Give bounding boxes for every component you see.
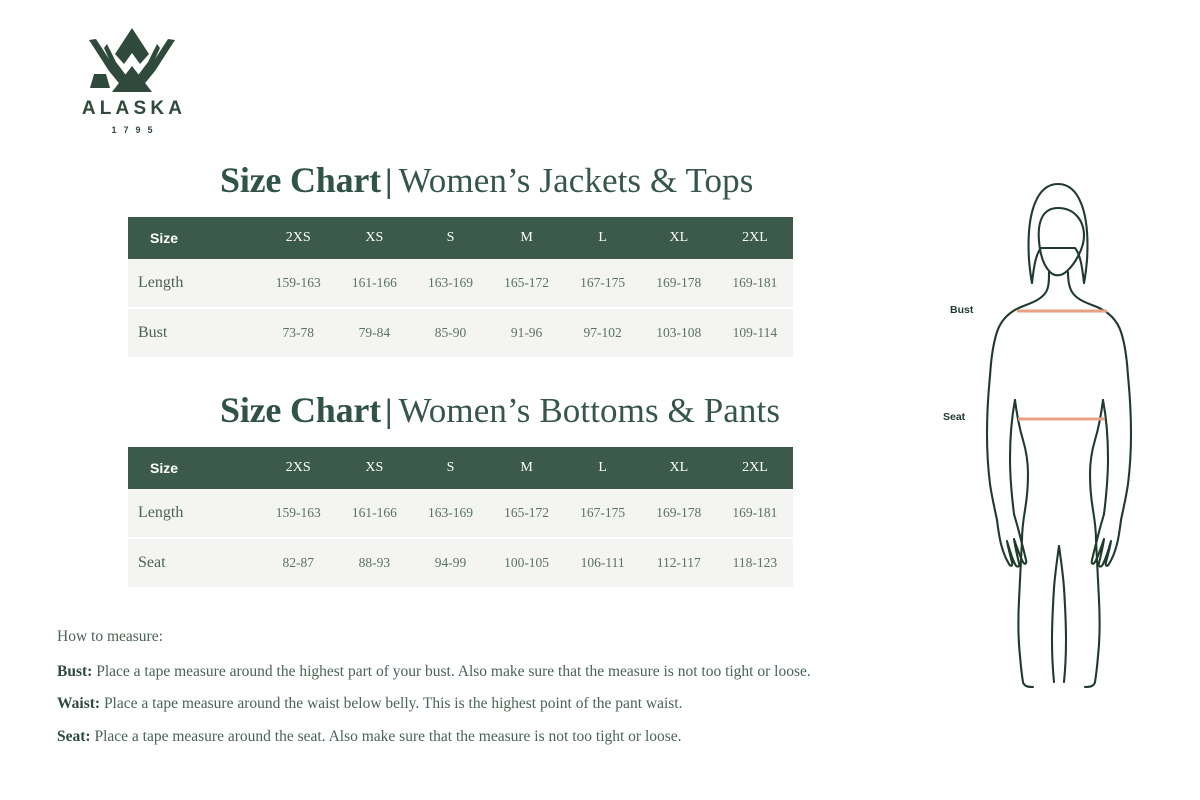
table-row: Length 159-163 161-166 163-169 165-172 1… xyxy=(128,489,793,538)
column-header-m: M xyxy=(489,447,565,489)
table-row: Seat 82-87 88-93 94-99 100-105 106-111 1… xyxy=(128,538,793,587)
column-header-m: M xyxy=(489,217,565,259)
how-to-measure-block: How to measure: Bust: Place a tape measu… xyxy=(57,628,887,759)
page-title-light: Women’s Jackets & Tops xyxy=(398,161,753,200)
measure-text-bust: Place a tape measure around the highest … xyxy=(92,663,810,680)
cell: 100-105 xyxy=(489,538,565,587)
figure-label-bust: Bust xyxy=(950,304,973,316)
column-header-xl: XL xyxy=(641,217,717,259)
cell: 85-90 xyxy=(412,308,488,357)
brand-year: 1795 xyxy=(68,125,196,135)
cell: 165-172 xyxy=(489,259,565,308)
measure-term-waist: Waist: xyxy=(57,695,100,712)
table-header-row: Size 2XS XS S M L XL 2XL xyxy=(128,447,793,489)
cell: 167-175 xyxy=(565,489,641,538)
brand-wordmark: ALASKA xyxy=(68,98,196,120)
brand-logo: ALASKA 1795 xyxy=(68,26,196,135)
column-header-l: L xyxy=(565,447,641,489)
measure-text-waist: Place a tape measure around the waist be… xyxy=(100,695,682,712)
row-label-bust: Bust xyxy=(128,308,260,357)
page-title-strong: Size Chart xyxy=(220,390,381,430)
female-body-outline-icon xyxy=(925,168,1190,688)
cell: 73-78 xyxy=(260,308,336,357)
cell: 88-93 xyxy=(336,538,412,587)
column-header-l: L xyxy=(565,217,641,259)
cell: 167-175 xyxy=(565,259,641,308)
page-title-strong: Size Chart xyxy=(220,160,381,200)
cell: 161-166 xyxy=(336,259,412,308)
cell: 109-114 xyxy=(717,308,793,357)
row-label-seat: Seat xyxy=(128,538,260,587)
measure-term-seat: Seat: xyxy=(57,728,91,745)
column-header-2xs: 2XS xyxy=(260,447,336,489)
column-header-2xl: 2XL xyxy=(717,217,793,259)
column-header-size: Size xyxy=(128,217,260,259)
cell: 161-166 xyxy=(336,489,412,538)
cell: 165-172 xyxy=(489,489,565,538)
row-label-length: Length xyxy=(128,259,260,308)
column-header-s: S xyxy=(412,447,488,489)
column-header-s: S xyxy=(412,217,488,259)
size-table-bottoms: Size 2XS XS S M L XL 2XL Length 159-163 … xyxy=(128,447,793,587)
cell: 103-108 xyxy=(641,308,717,357)
table-row: Length 159-163 161-166 163-169 165-172 1… xyxy=(128,259,793,308)
column-header-2xl: 2XL xyxy=(717,447,793,489)
measure-text-seat: Place a tape measure around the seat. Al… xyxy=(91,728,682,745)
antler-mountain-logo-icon xyxy=(76,26,188,96)
title-separator: | xyxy=(385,163,393,200)
column-header-xs: XS xyxy=(336,447,412,489)
cell: 169-181 xyxy=(717,259,793,308)
measure-instruction-waist: Waist: Place a tape measure around the w… xyxy=(57,694,887,713)
cell: 159-163 xyxy=(260,489,336,538)
cell: 163-169 xyxy=(412,259,488,308)
cell: 82-87 xyxy=(260,538,336,587)
table-header-row: Size 2XS XS S M L XL 2XL xyxy=(128,217,793,259)
measure-term-bust: Bust: xyxy=(57,663,92,680)
cell: 94-99 xyxy=(412,538,488,587)
measurement-figure: Bust Seat xyxy=(925,168,1190,688)
figure-label-seat: Seat xyxy=(943,411,965,423)
column-header-size: Size xyxy=(128,447,260,489)
column-header-xs: XS xyxy=(336,217,412,259)
cell: 169-181 xyxy=(717,489,793,538)
cell: 106-111 xyxy=(565,538,641,587)
cell: 169-178 xyxy=(641,259,717,308)
cell: 159-163 xyxy=(260,259,336,308)
cell: 112-117 xyxy=(641,538,717,587)
measure-instruction-bust: Bust: Place a tape measure around the hi… xyxy=(57,662,887,681)
cell: 79-84 xyxy=(336,308,412,357)
cell: 91-96 xyxy=(489,308,565,357)
page-title-light: Women’s Bottoms & Pants xyxy=(398,391,780,430)
cell: 163-169 xyxy=(412,489,488,538)
table-row: Bust 73-78 79-84 85-90 91-96 97-102 103-… xyxy=(128,308,793,357)
cell: 169-178 xyxy=(641,489,717,538)
cell: 97-102 xyxy=(565,308,641,357)
row-label-length: Length xyxy=(128,489,260,538)
size-table-tops: Size 2XS XS S M L XL 2XL Length 159-163 … xyxy=(128,217,793,357)
column-header-xl: XL xyxy=(641,447,717,489)
cell: 118-123 xyxy=(717,538,793,587)
title-separator: | xyxy=(385,393,393,430)
column-header-2xs: 2XS xyxy=(260,217,336,259)
measure-instruction-seat: Seat: Place a tape measure around the se… xyxy=(57,727,887,746)
how-to-measure-heading: How to measure: xyxy=(57,628,887,646)
